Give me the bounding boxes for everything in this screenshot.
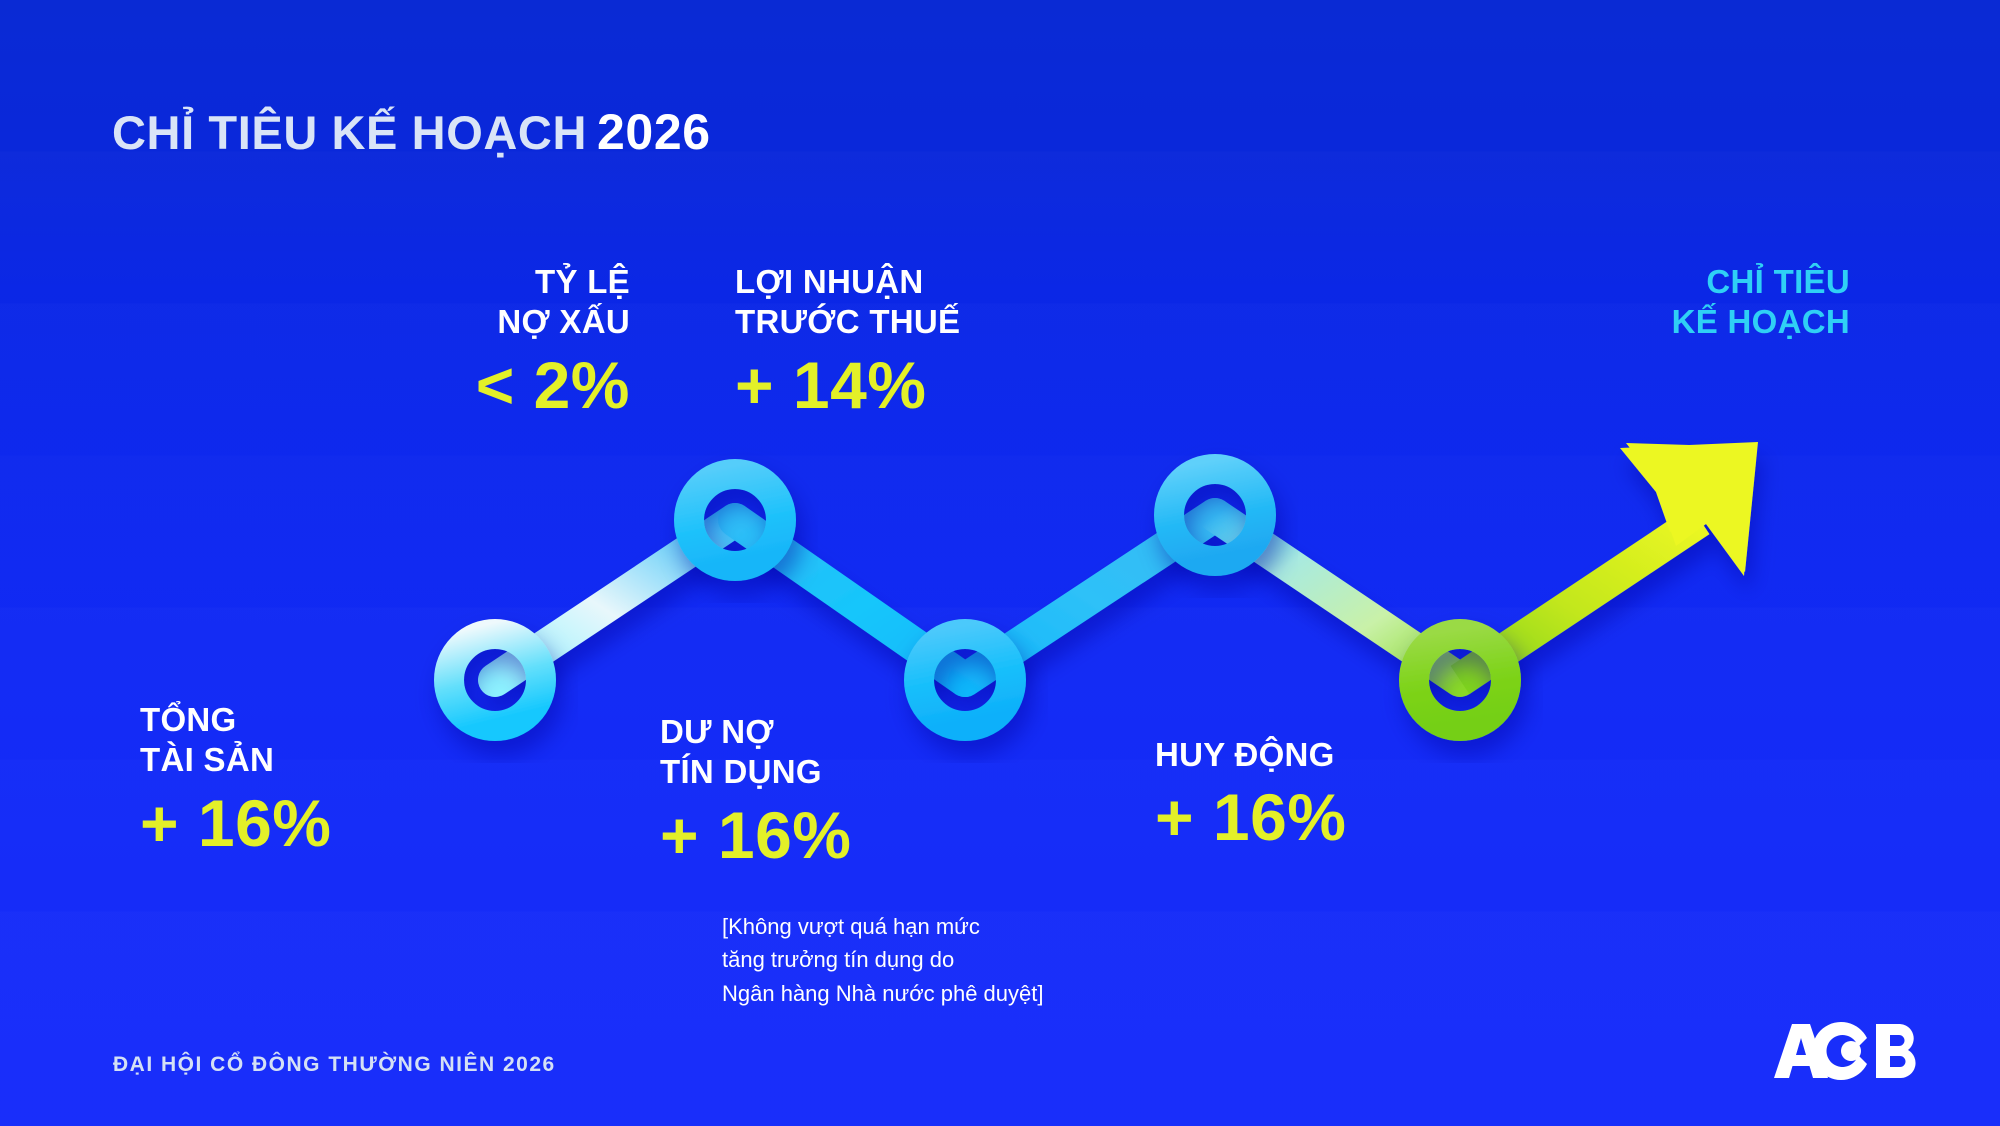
- slide-canvas: CHỈ TIÊU KẾ HOẠCH2026 TỶ LỆ NỢ XẤU < 2% …: [0, 0, 2000, 1126]
- metric-label-tong-tai-san: TỔNG TÀI SẢN: [140, 700, 560, 781]
- metric-ty-le-no-xau: TỶ LỆ NỢ XẤU < 2%: [200, 262, 630, 420]
- metric-value-ty-le-no-xau: < 2%: [200, 351, 630, 420]
- chart-line-path: [495, 442, 1758, 680]
- metric-label-loi-nhuan-truoc-thue: LỢI NHUẬN TRƯỚC THUẾ: [735, 262, 1165, 343]
- metric-value-tong-tai-san: + 16%: [140, 789, 560, 858]
- metric-value-huy-dong: + 16%: [1155, 783, 1575, 852]
- metric-label-ty-le-no-xau: TỶ LỆ NỢ XẤU: [200, 262, 630, 343]
- footer-event-title: ĐẠI HỘI CỔ ĐÔNG THƯỜNG NIÊN 2026: [113, 1053, 556, 1077]
- metric-loi-nhuan-truoc-thue: LỢI NHUẬN TRƯỚC THUẾ + 14%: [735, 262, 1165, 420]
- metric-label-chi-tieu-ke-hoach: CHỈ TIÊU KẾ HOẠCH: [1420, 262, 1850, 343]
- credit-growth-footnote: [Không vượt quá hạn mức tăng trưởng tín …: [722, 910, 1043, 1010]
- metric-label-du-no-tin-dung: DƯ NỢ TÍN DỤNG: [660, 712, 1100, 793]
- metric-value-du-no-tin-dung: + 16%: [660, 801, 1100, 870]
- metric-value-loi-nhuan-truoc-thue: + 14%: [735, 351, 1165, 420]
- page-title-main: CHỈ TIÊU KẾ HOẠCH: [112, 106, 587, 159]
- metric-huy-dong: HUY ĐỘNG + 16%: [1155, 735, 1575, 853]
- metric-tong-tai-san: TỔNG TÀI SẢN + 16%: [140, 700, 560, 858]
- metric-label-huy-dong: HUY ĐỘNG: [1155, 735, 1575, 775]
- acb-logo: [1772, 1022, 1922, 1080]
- page-title-year: 2026: [597, 104, 711, 160]
- metric-du-no-tin-dung: DƯ NỢ TÍN DỤNG + 16%: [660, 712, 1100, 870]
- metric-chi-tieu-ke-hoach: CHỈ TIÊU KẾ HOẠCH: [1420, 262, 1850, 343]
- page-title: CHỈ TIÊU KẾ HOẠCH2026: [112, 103, 711, 161]
- acb-logo-icon: [1772, 1022, 1922, 1080]
